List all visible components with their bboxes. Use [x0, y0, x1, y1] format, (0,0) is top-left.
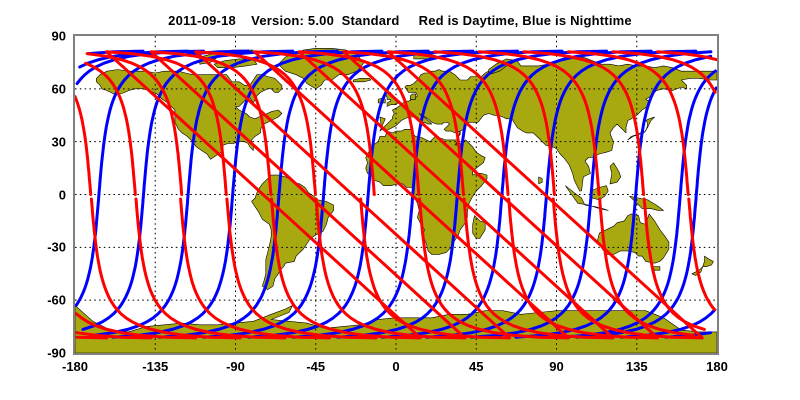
x-axis-tick-label: 0 — [392, 359, 399, 374]
y-axis-tick-label: -60 — [24, 293, 66, 308]
page-title: 2011-09-18 Version: 5.00 Standard Red is… — [0, 13, 800, 28]
x-axis-tick-label: 180 — [706, 359, 728, 374]
x-axis-tick-label: -90 — [226, 359, 245, 374]
x-axis-tick-label: 90 — [549, 359, 563, 374]
y-axis-tick-label: -90 — [24, 346, 66, 361]
x-axis-tick-label: 135 — [626, 359, 648, 374]
groundtrack-plot-area — [73, 34, 719, 355]
x-axis-tick-label: -180 — [62, 359, 88, 374]
y-axis-tick-label: 0 — [24, 187, 66, 202]
y-axis-tick-label: -30 — [24, 240, 66, 255]
y-axis-tick-label: 90 — [24, 29, 66, 44]
x-axis-tick-label: -135 — [142, 359, 168, 374]
world-map-with-ground-tracks — [75, 36, 717, 353]
y-axis-tick-label: 60 — [24, 81, 66, 96]
x-axis-tick-label: -45 — [306, 359, 325, 374]
x-axis-tick-label: 45 — [469, 359, 483, 374]
y-axis-tick-label: 30 — [24, 134, 66, 149]
